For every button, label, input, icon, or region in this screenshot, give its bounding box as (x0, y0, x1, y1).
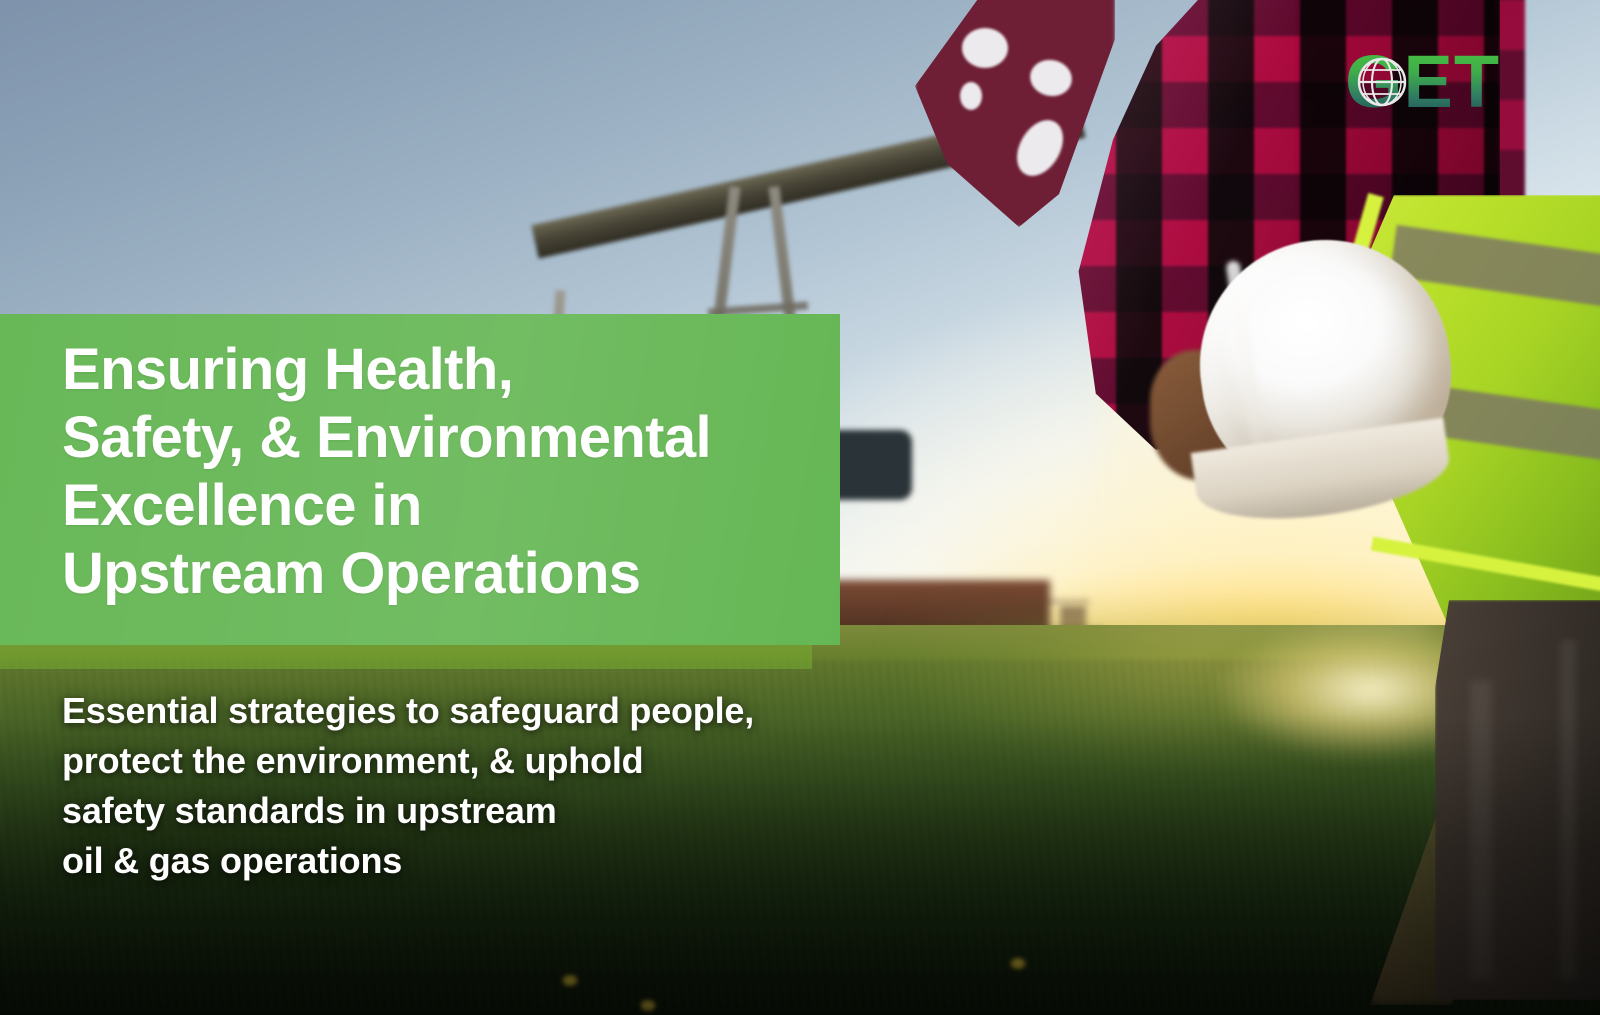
horsehead-cutout-3 (960, 82, 982, 110)
logo-wordmark: GET (1345, 45, 1500, 119)
banner-stage: Ensuring Health, Safety, & Environmental… (0, 0, 1600, 1015)
brand-logo[interactable]: GET (1345, 42, 1515, 122)
page-subtitle: Essential strategies to safeguard people… (62, 686, 882, 886)
page-title: Ensuring Health, Safety, & Environmental… (62, 336, 822, 608)
headline-panel-fade-band (0, 645, 812, 669)
horsehead-cutout-1 (962, 28, 1008, 68)
